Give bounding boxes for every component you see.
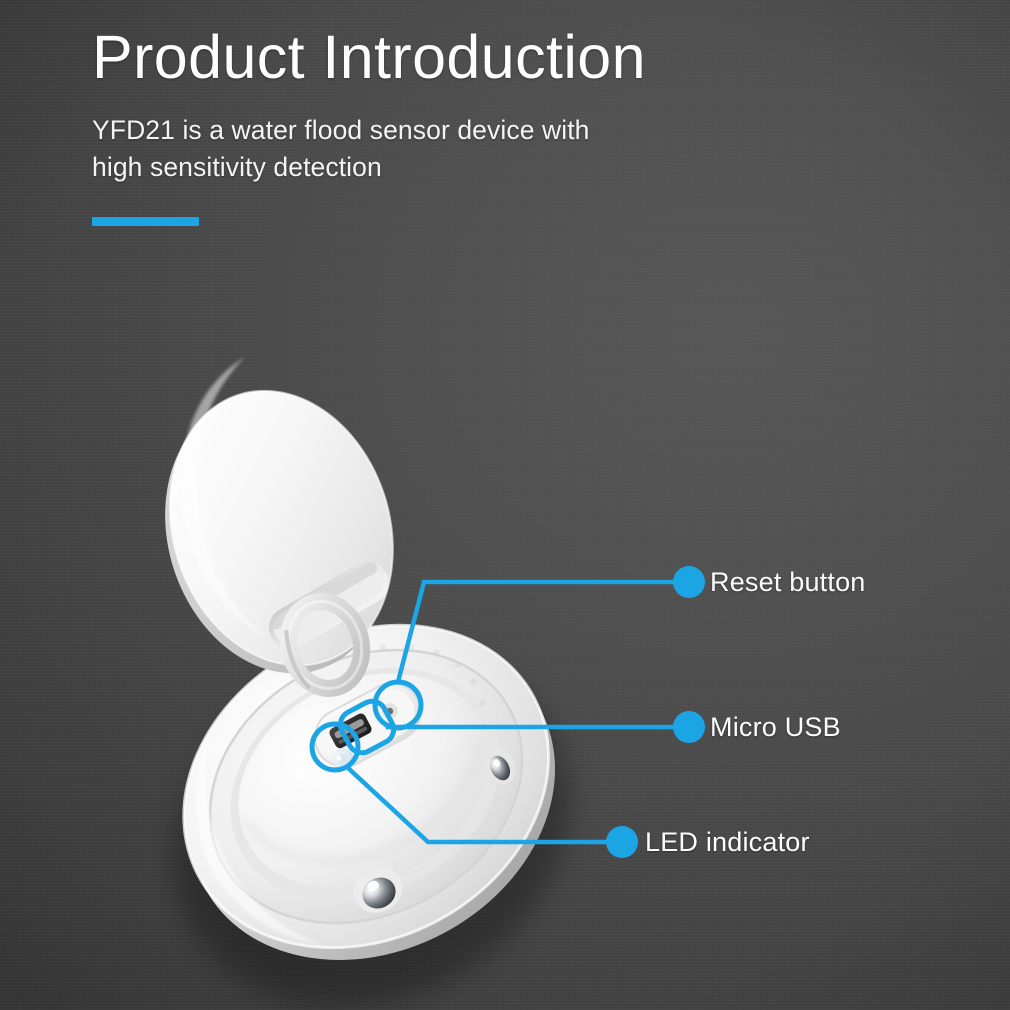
callout-micro-usb[interactable]	[335, 696, 705, 757]
reset-button-leader-line	[398, 582, 689, 682]
callout-label-micro-usb: Micro USB	[710, 712, 841, 742]
callout-overlay	[0, 0, 1010, 1010]
micro-usb-dot[interactable]	[673, 711, 705, 743]
callout-label-reset-button: Reset button	[710, 567, 866, 597]
product-introduction-page: Product Introduction YFD21 is a water fl…	[0, 0, 1010, 1010]
led-indicator-leader-line	[347, 767, 622, 842]
reset-button-dot[interactable]	[673, 566, 705, 598]
callout-label-led-indicator: LED indicator	[645, 827, 810, 857]
led-indicator-dot[interactable]	[606, 826, 638, 858]
callout-reset-button[interactable]	[375, 566, 705, 728]
callout-led-indicator[interactable]	[312, 724, 638, 858]
